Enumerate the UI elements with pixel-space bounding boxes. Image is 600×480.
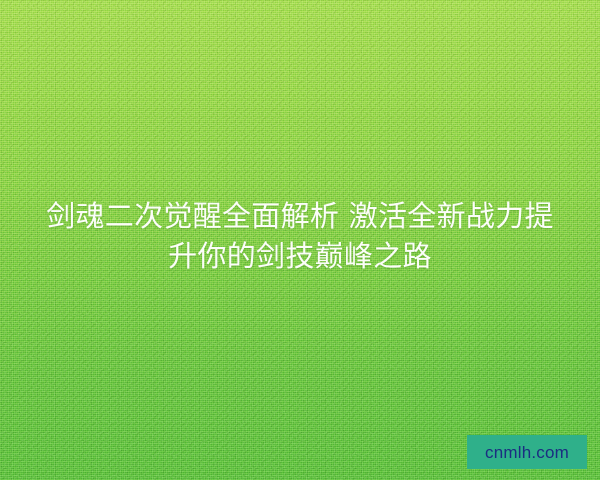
page-title: 剑魂二次觉醒全面解析 激活全新战力提 升你的剑技巅峰之路 <box>0 196 600 276</box>
title-line-1: 剑魂二次觉醒全面解析 激活全新战力提 <box>18 196 582 236</box>
banner-image: 剑魂二次觉醒全面解析 激活全新战力提 升你的剑技巅峰之路 cnmlh.com <box>0 0 600 480</box>
title-line-2: 升你的剑技巅峰之路 <box>18 236 582 276</box>
watermark-badge: cnmlh.com <box>467 435 587 469</box>
watermark-label: cnmlh.com <box>485 444 569 461</box>
